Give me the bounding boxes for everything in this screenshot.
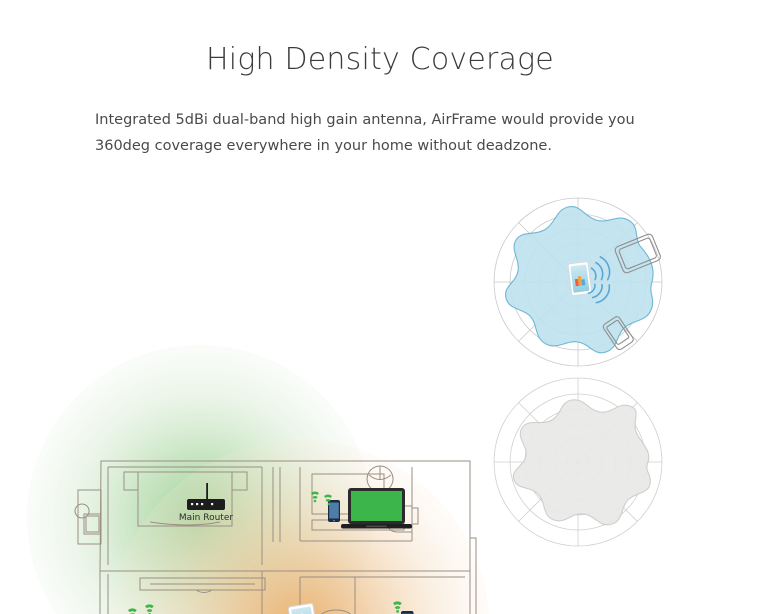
- airframe-device-icon-blue: [568, 262, 592, 296]
- page-subtitle: Integrated 5dBi dual-band high gain ante…: [95, 107, 685, 159]
- chart-standard-radiation-pattern: [494, 378, 662, 546]
- coverage-figure: Main Router AirFrame Repeater: [0, 170, 760, 614]
- chart-airframe-radiation-pattern: [494, 198, 662, 366]
- coverage-illustration: Main Router AirFrame Repeater: [0, 170, 760, 614]
- page-root: High Density Coverage Integrated 5dBi du…: [0, 0, 760, 614]
- laptop-study: [341, 488, 412, 529]
- main-router-label: Main Router: [179, 513, 233, 523]
- page-title: High Density Coverage: [0, 42, 760, 77]
